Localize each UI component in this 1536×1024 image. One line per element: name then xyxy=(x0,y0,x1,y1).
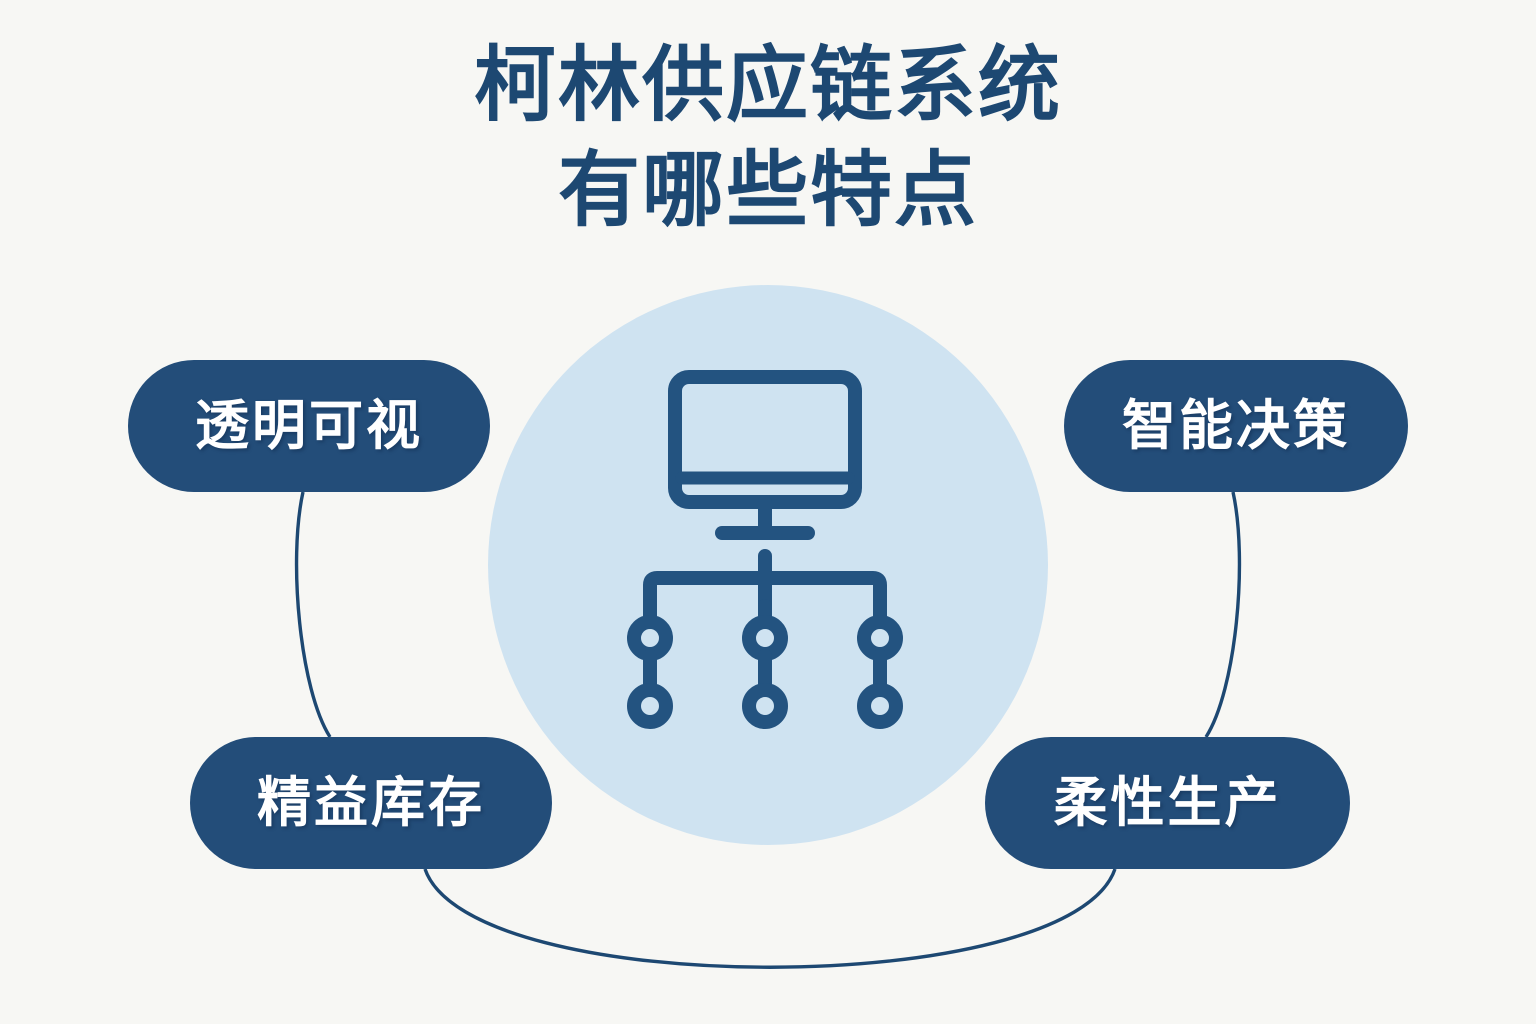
feature-pill-transparent-label: 透明可视 xyxy=(195,399,423,453)
feature-pill-smart[interactable]: 智能决策 xyxy=(1064,360,1408,492)
branch-left-node-lower xyxy=(634,690,666,722)
branch-right-node-lower xyxy=(864,690,896,722)
feature-pill-smart-label: 智能决策 xyxy=(1122,399,1350,453)
feature-pill-lean[interactable]: 精益库存 xyxy=(190,737,552,869)
feature-pill-flexible-label: 柔性生产 xyxy=(1054,776,1282,830)
branch-center-node-lower xyxy=(749,690,781,722)
infographic-canvas: 柯林供应链系统 有哪些特点 xyxy=(0,0,1536,1024)
network-hierarchy-icon xyxy=(0,0,1536,1024)
feature-pill-flexible[interactable]: 柔性生产 xyxy=(985,737,1350,869)
feature-pill-transparent[interactable]: 透明可视 xyxy=(128,360,490,492)
feature-pill-lean-label: 精益库存 xyxy=(257,776,485,830)
